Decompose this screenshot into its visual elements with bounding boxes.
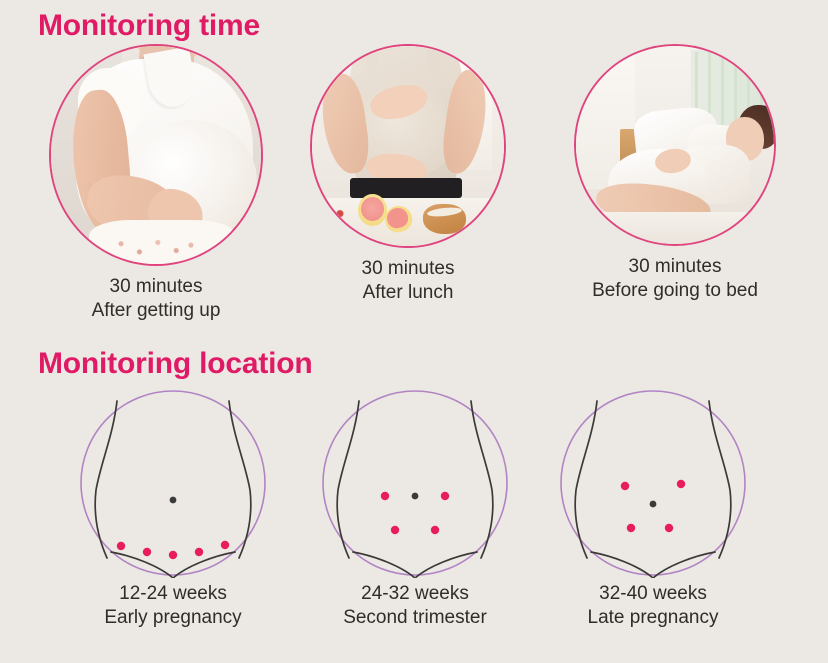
monitoring-dot	[143, 548, 151, 556]
monitoring-location-card-3: 32-40 weeks Late pregnancy	[528, 388, 778, 630]
monitoring-dot	[195, 548, 203, 556]
caption-line-1: 12-24 weeks	[48, 582, 298, 606]
torso-right-outline	[229, 401, 251, 558]
caption-early-pregnancy: 12-24 weeks Early pregnancy	[48, 582, 298, 630]
monitoring-location-card-1: 12-24 weeks Early pregnancy	[48, 388, 298, 630]
monitoring-dot	[221, 541, 229, 549]
caption-after-lunch: 30 minutes After lunch	[298, 257, 518, 305]
caption-line-2: Early pregnancy	[48, 606, 298, 630]
torso-left-outline	[337, 401, 359, 558]
scene-bedroom-rest	[576, 46, 774, 244]
caption-line-1: 30 minutes	[298, 257, 518, 281]
monitoring-location-card-row: 12-24 weeks Early pregnancy	[0, 388, 828, 658]
scene-lunch-table	[312, 46, 504, 246]
navel-marker	[412, 493, 419, 500]
torso-left-outline	[575, 401, 597, 558]
monitoring-time-card-1: 30 minutes After getting up	[36, 44, 276, 323]
photo-after-lunch	[310, 44, 506, 248]
diagram-ring	[561, 391, 745, 575]
caption-line-2: After getting up	[36, 299, 276, 323]
monitoring-dot	[117, 542, 125, 550]
diagram-ring	[81, 391, 265, 575]
caption-line-1: 24-32 weeks	[290, 582, 540, 606]
monitoring-location-heading: Monitoring location	[38, 349, 313, 379]
torso-left-outline	[95, 401, 117, 558]
caption-late-pregnancy: 32-40 weeks Late pregnancy	[528, 582, 778, 630]
diagram-ring	[323, 391, 507, 575]
monitoring-time-card-row: 30 minutes After getting up	[0, 44, 828, 344]
navel-marker	[170, 497, 177, 504]
monitoring-time-card-2: 30 minutes After lunch	[298, 44, 518, 305]
caption-before-going-to-bed: 30 minutes Before going to bed	[545, 255, 805, 303]
caption-line-2: Before going to bed	[545, 279, 805, 303]
monitoring-dot	[169, 551, 177, 559]
belly-diagram-late-pregnancy	[535, 388, 771, 578]
monitoring-dot	[621, 482, 629, 490]
monitoring-location-card-2: 24-32 weeks Second trimester	[290, 388, 540, 630]
caption-line-2: Late pregnancy	[528, 606, 778, 630]
photo-before-going-to-bed	[574, 44, 776, 246]
belly-diagram-early-pregnancy	[55, 388, 291, 578]
scene-standing-woman	[51, 46, 261, 264]
caption-line-1: 30 minutes	[36, 275, 276, 299]
monitoring-dot	[441, 492, 449, 500]
monitoring-dot	[627, 524, 635, 532]
caption-after-getting-up: 30 minutes After getting up	[36, 275, 276, 323]
monitoring-dot	[391, 526, 399, 534]
caption-line-1: 32-40 weeks	[528, 582, 778, 606]
photo-after-getting-up	[49, 44, 263, 266]
torso-right-outline	[471, 401, 493, 558]
monitoring-dot	[381, 492, 389, 500]
monitoring-time-heading: Monitoring time	[38, 11, 260, 41]
monitoring-dot	[431, 526, 439, 534]
monitoring-dot	[677, 480, 685, 488]
infographic-page: Monitoring time	[0, 0, 828, 663]
monitoring-dot	[665, 524, 673, 532]
belly-diagram-second-trimester	[297, 388, 533, 578]
monitoring-dots	[117, 541, 229, 559]
caption-line-2: Second trimester	[290, 606, 540, 630]
monitoring-time-card-3: 30 minutes Before going to bed	[545, 44, 805, 303]
navel-marker	[650, 501, 657, 508]
caption-line-1: 30 minutes	[545, 255, 805, 279]
caption-line-2: After lunch	[298, 281, 518, 305]
caption-second-trimester: 24-32 weeks Second trimester	[290, 582, 540, 630]
torso-right-outline	[709, 401, 731, 558]
